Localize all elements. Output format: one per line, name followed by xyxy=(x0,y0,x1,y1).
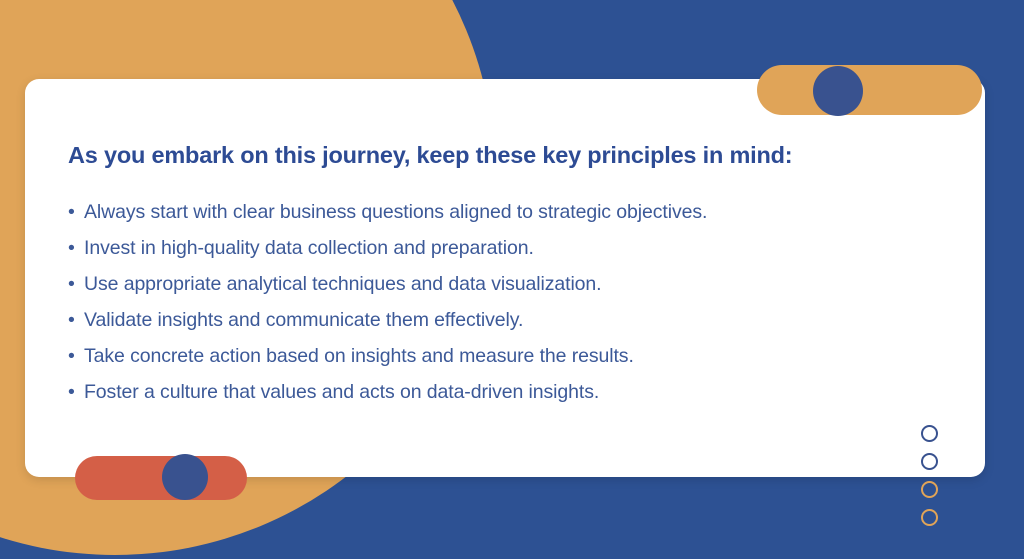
bullet-point-icon: • xyxy=(68,239,75,259)
ring-icon xyxy=(921,481,938,498)
ring-decoration-group xyxy=(921,425,938,537)
list-item-label: Take concrete action based on insights a… xyxy=(84,345,634,367)
list-item: • Take concrete action based on insights… xyxy=(68,347,945,367)
bullet-point-icon: • xyxy=(68,275,75,295)
list-item-label: Use appropriate analytical techniques an… xyxy=(84,273,601,295)
bullet-point-icon: • xyxy=(68,203,75,223)
blue-circle-decoration-bottom xyxy=(162,454,208,500)
ring-icon xyxy=(921,453,938,470)
slide-canvas: As you embark on this journey, keep thes… xyxy=(0,0,1024,559)
list-item: • Invest in high-quality data collection… xyxy=(68,239,945,259)
ring-icon xyxy=(921,509,938,526)
list-item-label: Always start with clear business questio… xyxy=(84,201,707,223)
principles-list: • Always start with clear business quest… xyxy=(68,203,945,403)
bullet-point-icon: • xyxy=(68,383,75,403)
list-item: • Foster a culture that values and acts … xyxy=(68,383,945,403)
list-item-label: Invest in high-quality data collection a… xyxy=(84,237,534,259)
card-content: As you embark on this journey, keep thes… xyxy=(68,141,945,403)
ring-icon xyxy=(921,425,938,442)
list-item: • Validate insights and communicate them… xyxy=(68,311,945,331)
bullet-point-icon: • xyxy=(68,311,75,331)
page-title: As you embark on this journey, keep thes… xyxy=(68,141,945,169)
list-item-label: Foster a culture that values and acts on… xyxy=(84,381,599,403)
orange-pill-decoration xyxy=(757,65,982,115)
content-card: As you embark on this journey, keep thes… xyxy=(25,79,985,477)
bullet-point-icon: • xyxy=(68,347,75,367)
blue-circle-decoration-top xyxy=(813,66,863,116)
list-item-label: Validate insights and communicate them e… xyxy=(84,309,523,331)
list-item: • Always start with clear business quest… xyxy=(68,203,945,223)
list-item: • Use appropriate analytical techniques … xyxy=(68,275,945,295)
red-pill-decoration xyxy=(75,456,247,500)
